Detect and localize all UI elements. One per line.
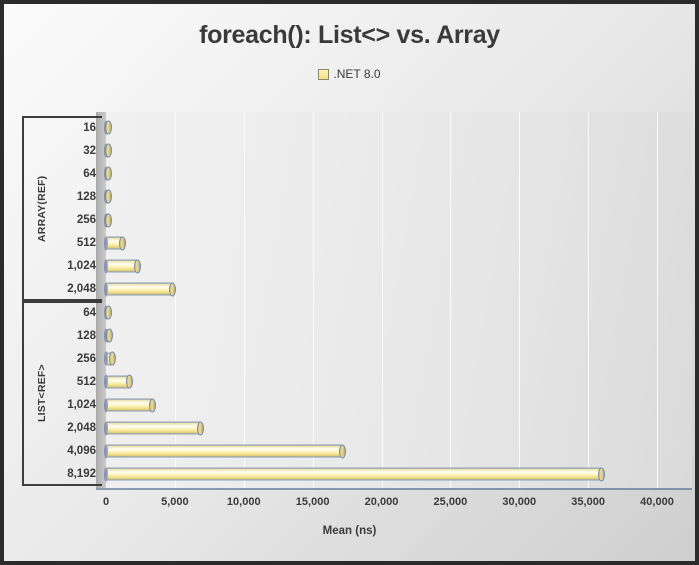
category-label: 64 [83, 307, 96, 319]
bar [106, 306, 109, 319]
gridline [450, 112, 451, 488]
category-bracket [22, 116, 102, 118]
bar-end-cap [105, 190, 112, 204]
category-label: 1,024 [67, 399, 96, 411]
bar [106, 329, 110, 342]
category-label: 32 [83, 145, 96, 157]
x-tick-label: 15,000 [296, 496, 330, 508]
bar-left-cap [104, 236, 108, 250]
plot-area: 05,00010,00015,00020,00025,00030,00035,0… [4, 4, 695, 561]
bar-left-cap [104, 444, 108, 458]
x-tick-label: 0 [103, 496, 109, 508]
category-label: 128 [77, 330, 96, 342]
category-bracket [22, 301, 102, 303]
x-tick-label: 40,000 [640, 496, 674, 508]
bar-left-cap [104, 398, 108, 412]
bar-left-cap [104, 259, 108, 273]
bar [106, 190, 109, 203]
gridline [313, 112, 314, 488]
category-group-label: LIST<REF> [36, 301, 48, 486]
bar [106, 260, 138, 273]
bar-end-cap [169, 282, 176, 296]
gridline [519, 112, 520, 488]
bar [106, 237, 123, 250]
gridline [657, 112, 658, 488]
bar [106, 283, 173, 296]
bar [106, 352, 113, 365]
bar-end-cap [598, 467, 605, 481]
bar-end-cap [149, 398, 156, 412]
bar [106, 121, 109, 134]
category-label: 2,048 [67, 283, 96, 295]
category-label: 64 [83, 168, 96, 180]
bar-left-cap [104, 375, 108, 389]
bar-left-cap [104, 467, 108, 481]
category-label: 16 [83, 122, 96, 134]
bar [106, 214, 109, 227]
bar-end-cap [105, 306, 112, 320]
category-bracket [22, 116, 24, 301]
bar-body [106, 468, 602, 481]
bar-left-cap [104, 421, 108, 435]
bar [106, 445, 343, 458]
chart-window: foreach(): List<> vs. Array .NET 8.0 05,… [4, 4, 695, 561]
category-label: 2,048 [67, 422, 96, 434]
category-label: 128 [77, 191, 96, 203]
category-label: 1,024 [67, 260, 96, 272]
x-tick-label: 35,000 [571, 496, 605, 508]
bar [106, 399, 153, 412]
category-bracket [22, 484, 102, 486]
category-label: 8,192 [67, 468, 96, 480]
category-axis: 1632641282565121,0242,048641282565121,02… [22, 108, 102, 490]
category-group-label: ARRAY(REF) [36, 116, 48, 301]
bar-left-cap [104, 282, 108, 296]
bar-end-cap [105, 167, 112, 181]
bar-body [106, 283, 173, 296]
x-tick-label: 10,000 [227, 496, 261, 508]
bar [106, 144, 109, 157]
x-axis-title: Mean (ns) [4, 525, 695, 537]
bar [106, 375, 130, 388]
bar-end-cap [126, 375, 133, 389]
bar-body [106, 445, 343, 458]
bar-end-cap [106, 329, 113, 343]
category-label: 256 [77, 353, 96, 365]
bar [106, 468, 602, 481]
bar-end-cap [119, 236, 126, 250]
bar-end-cap [197, 421, 204, 435]
bar [106, 422, 201, 435]
bar-left-cap [104, 352, 108, 366]
gridline [382, 112, 383, 488]
bar-end-cap [105, 213, 112, 227]
bar-end-cap [339, 444, 346, 458]
category-bracket [22, 301, 24, 486]
category-label: 4,096 [67, 445, 96, 457]
category-label: 512 [77, 376, 96, 388]
category-label: 256 [77, 214, 96, 226]
category-label: 512 [77, 237, 96, 249]
x-tick-label: 25,000 [434, 496, 468, 508]
bar-end-cap [105, 121, 112, 135]
bar-body [106, 399, 153, 412]
bar-end-cap [105, 144, 112, 158]
x-tick-label: 20,000 [365, 496, 399, 508]
x-tick-label: 30,000 [502, 496, 536, 508]
x-axis-line [96, 488, 692, 490]
bar-body [106, 422, 201, 435]
gridline [244, 112, 245, 488]
bar [106, 167, 109, 180]
gridline [588, 112, 589, 488]
x-tick-label: 5,000 [161, 496, 189, 508]
